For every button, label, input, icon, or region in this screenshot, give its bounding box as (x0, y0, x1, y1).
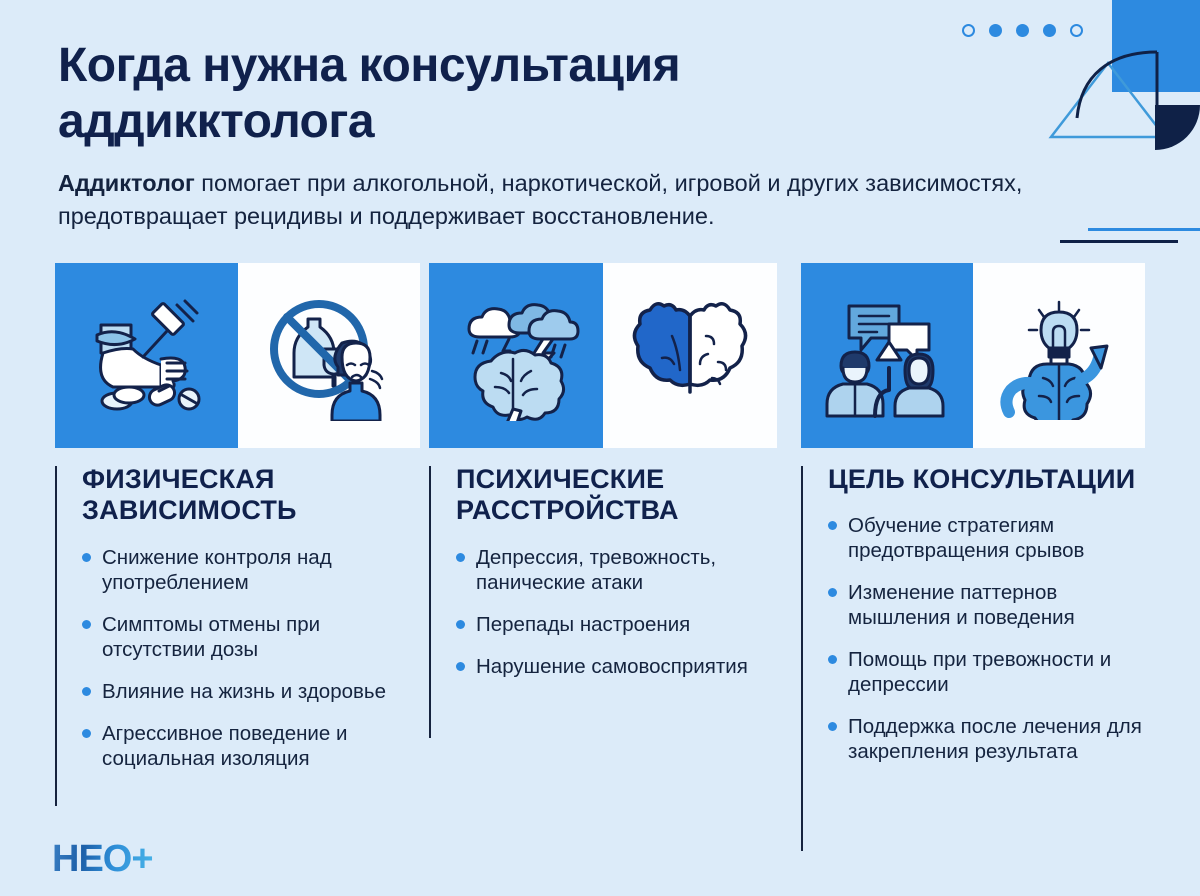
column-divider-3 (801, 466, 803, 851)
column-heading-3: ЦЕЛЬ КОНСУЛЬТАЦИИ (828, 464, 1153, 495)
list-item: Снижение контроля над употреблением (82, 545, 400, 595)
page-title: Когда нужна консультация аддикктолога (58, 38, 918, 149)
column-mental-disorders: ПСИХИЧЕСКИЕ РАССТРОЙСТВА Депрессия, трев… (429, 464, 769, 696)
page-subtitle: Аддиктолог помогает при алкогольной, нар… (58, 167, 1118, 234)
decor-navy-rule (1060, 240, 1178, 243)
list-item: Изменение паттернов мышления и поведения (828, 580, 1153, 630)
list-item: Обучение стратегиям предотвращения срыво… (828, 513, 1153, 563)
tile-no-alcohol (238, 263, 421, 448)
heart-brain-icon (626, 292, 754, 420)
list-item: Депрессия, тревожность, панические атаки (456, 545, 769, 595)
list-item: Перепады настроения (456, 612, 769, 637)
icon-panel-goal (801, 263, 1145, 448)
column-divider-1 (55, 466, 57, 806)
list-item: Поддержка после лечения для закрепления … (828, 714, 1153, 764)
subtitle-text: помогает при алкогольной, наркотической,… (58, 170, 1022, 229)
icon-panel-row (55, 263, 1145, 448)
column-heading-1: ФИЗИЧЕСКАЯ ЗАВИСИМОСТЬ (82, 464, 400, 527)
column-list-2: Депрессия, тревожность, панические атаки… (456, 545, 769, 679)
decor-dot-row (962, 24, 1083, 37)
icon-panel-physical (55, 263, 420, 448)
column-consultation-goal: ЦЕЛЬ КОНСУЛЬТАЦИИ Обучение стратегиям пр… (801, 464, 1153, 781)
brain-storm-cloud-icon (451, 291, 581, 421)
subtitle-keyword: Аддиктолог (58, 170, 195, 196)
tile-arm-syringe (55, 263, 238, 448)
column-list-3: Обучение стратегиям предотвращения срыво… (828, 513, 1153, 764)
column-list-1: Снижение контроля над употреблением Симп… (82, 545, 400, 771)
column-divider-2 (429, 466, 431, 738)
brand-logo: НЕО+ (52, 838, 153, 881)
page-title-line2: аддикктолога (58, 95, 374, 148)
decor-dot-1-outline (962, 24, 975, 37)
column-physical-dependence: ФИЗИЧЕСКАЯ ЗАВИСИМОСТЬ Снижение контроля… (55, 464, 400, 788)
list-item: Симптомы отмены при отсутствии дозы (82, 612, 400, 662)
brain-lightbulb-arrows-icon (995, 292, 1123, 420)
arm-syringe-pills-icon (81, 291, 211, 421)
list-item: Помощь при тревожности и депрессии (828, 647, 1153, 697)
column-heading-2: ПСИХИЧЕСКИЕ РАССТРОЙСТВА (456, 464, 769, 527)
icon-panel-mental (429, 263, 777, 448)
tile-heart-brain (603, 263, 777, 448)
no-alcohol-sad-person-icon (264, 291, 394, 421)
list-item: Влияние на жизнь и здоровье (82, 679, 400, 704)
tile-brain-storm (429, 263, 603, 448)
list-item: Агрессивное поведение и социальная изоля… (82, 721, 400, 771)
tile-people-dialog (801, 263, 973, 448)
people-speech-bubbles-icon (823, 292, 951, 420)
decor-dot-3-filled (1016, 24, 1029, 37)
decor-dot-4-filled (1043, 24, 1056, 37)
decor-dot-2-filled (989, 24, 1002, 37)
tile-brain-idea (973, 263, 1145, 448)
list-item: Нарушение самовосприятия (456, 654, 769, 679)
page-title-line1: Когда нужна консультация (58, 39, 680, 92)
